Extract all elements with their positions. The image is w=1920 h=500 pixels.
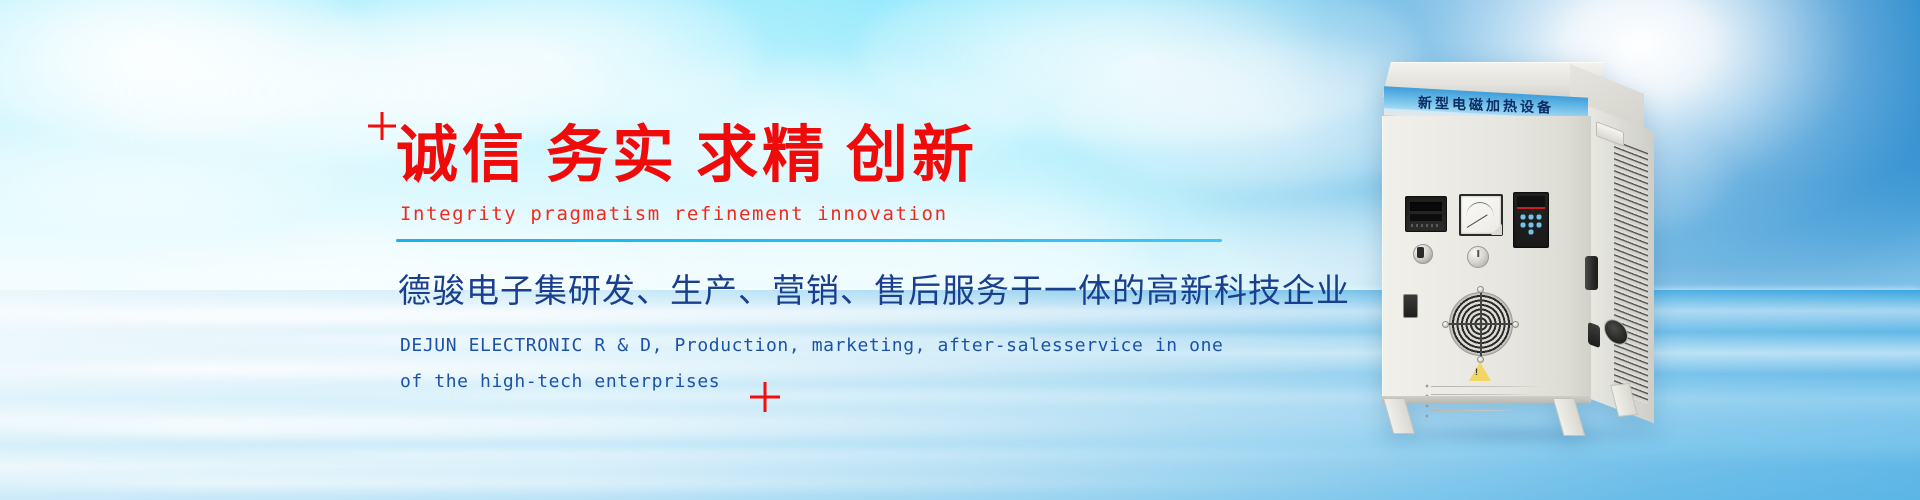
gauge-corner-notch [1491, 224, 1502, 235]
divider-rule [396, 239, 1222, 242]
ventilation-louvers [1614, 140, 1648, 405]
headline-word-1: 诚信 [396, 118, 528, 191]
cable-port-rectangular [1588, 322, 1600, 348]
tagline-english: DEJUN ELECTRONIC R & D, Production, mark… [400, 328, 1236, 398]
digital-meter-indicators [1411, 224, 1441, 227]
control-keypad [1513, 192, 1549, 248]
cabinet-front-panel: ! [1382, 116, 1591, 402]
fan-screw [1477, 286, 1484, 293]
headline-word-3: 求精 [696, 118, 828, 191]
spec-bullet-dots [1425, 384, 1429, 428]
fan-grille-icon [1449, 292, 1513, 356]
headline-word-2: 务实 [546, 118, 678, 191]
plus-mark-icon [368, 112, 396, 140]
analog-gauge [1459, 194, 1503, 236]
subtitle-english: Integrity pragmatism refinement innovati… [400, 203, 1236, 225]
fan-screw [1512, 321, 1519, 328]
machine-leg [1383, 398, 1415, 434]
door-handle[interactable] [1585, 256, 1598, 290]
digital-meter-display [1410, 202, 1442, 211]
digital-meter-secondary-display [1410, 214, 1442, 221]
digital-meter [1405, 196, 1447, 232]
keypad-buttons[interactable] [1518, 213, 1544, 235]
banner-copy: 诚信务实求精创新 Integrity pragmatism refinement… [396, 120, 1236, 399]
spec-line [1431, 410, 1515, 411]
rotary-adjust-knob[interactable] [1467, 246, 1489, 268]
gauge-scale-arc [1466, 202, 1494, 217]
warning-triangle-icon [1469, 362, 1491, 381]
selector-switch-knob[interactable] [1413, 244, 1433, 264]
tagline-english-line-1: DEJUN ELECTRONIC R & D, Production, mark… [400, 328, 1236, 363]
tagline-chinese: 德骏电子集研发、生产、营销、售后服务于一体的高新科技企业 [398, 264, 1236, 312]
power-switch[interactable] [1403, 294, 1418, 318]
promo-banner: 诚信务实求精创新 Integrity pragmatism refinement… [0, 0, 1920, 500]
warning-exclamation: ! [1475, 368, 1478, 377]
water-streak [0, 418, 1220, 438]
keypad-display [1517, 196, 1545, 209]
water-streak [0, 476, 1400, 490]
side-access-box [1596, 121, 1624, 147]
spec-line [1431, 386, 1545, 387]
headline-chinese: 诚信务实求精创新 [396, 120, 1236, 189]
tagline-english-line-2: of the high-tech enterprises [400, 364, 1236, 399]
spec-line [1431, 394, 1533, 395]
fan-screw [1442, 321, 1449, 328]
headline-word-4: 创新 [846, 118, 978, 191]
product-machine: 新型电磁加热设备 [1376, 62, 1664, 430]
spec-label-lines [1431, 386, 1547, 428]
water-streak [160, 448, 1600, 461]
